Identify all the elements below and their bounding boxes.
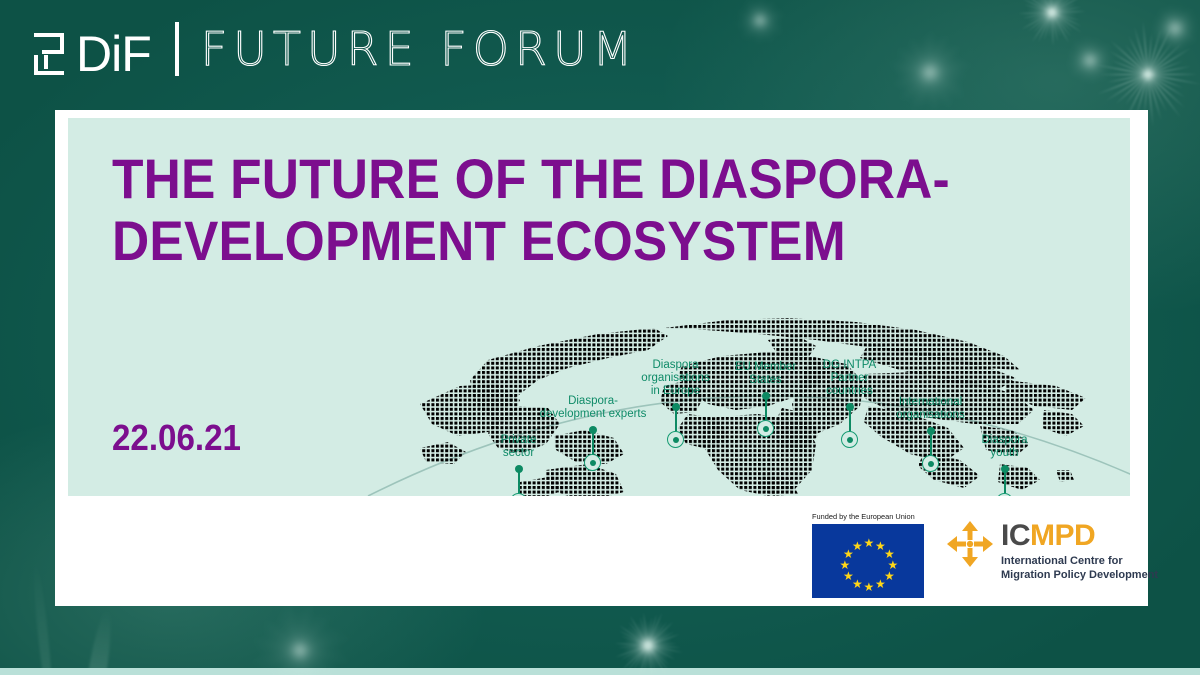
future-forum-text: FUTURE FORUM — [201, 26, 639, 72]
node-stem — [518, 471, 520, 493]
node-ring-icon — [841, 431, 858, 448]
footer-logos: Funded by the European Union ★ ★ ★ ★ ★ ★… — [812, 512, 1158, 598]
node-label: International organisations — [859, 396, 1003, 422]
future-forum-wordmark: FUTURE FORUM — [201, 21, 639, 77]
node-stem — [930, 433, 932, 455]
eu-funding-caption: Funded by the European Union — [812, 512, 930, 522]
node-label: Diaspora youth — [943, 434, 1067, 460]
node-stem — [592, 432, 594, 454]
icmpd-wordmark: ICMPD — [1001, 521, 1158, 551]
header-logo-bar: DiF FUTURE FORUM — [34, 18, 638, 80]
node-ring-icon — [922, 455, 939, 472]
node-stem — [1004, 471, 1006, 493]
bottom-accent-strip — [0, 668, 1200, 675]
slide-panel: Embassies Private sector Diaspora- devel… — [68, 118, 1130, 496]
node-stem — [849, 409, 851, 431]
eu-flag-icon: ★ ★ ★ ★ ★ ★ ★ ★ ★ ★ ★ ★ — [812, 524, 924, 598]
node-stem — [675, 409, 677, 431]
node-ring-icon — [667, 431, 684, 448]
node-ring-icon — [584, 454, 601, 471]
icmpd-subtitle-line-1: International Centre for — [1001, 555, 1158, 569]
page-title: THE FUTURE OF THE DIASPORA-DEVELOPMENT E… — [112, 148, 1032, 272]
slide-stage: DiF FUTURE FORUM — [0, 0, 1200, 675]
icmpd-subtitle: International Centre for Migration Polic… — [1001, 555, 1158, 582]
icmpd-subtitle-line-2: Migration Policy Development — [1001, 569, 1158, 583]
node-label: DG INTPA Partner countries — [788, 359, 912, 398]
event-date: 22.06.21 — [112, 418, 241, 458]
icmpd-arrows-icon — [946, 520, 994, 568]
node-ring-icon — [757, 420, 774, 437]
eudif-wordmark: DiF — [76, 31, 151, 77]
eu-mark-icon — [34, 31, 74, 77]
node-stem — [765, 398, 767, 420]
icmpd-wordmark-ic: IC — [1001, 519, 1030, 552]
icmpd-wordmark-mpd: MPD — [1030, 519, 1095, 552]
eudif-wordmark-text: DiF — [76, 26, 151, 82]
logo-divider — [175, 22, 179, 76]
node-label: Private sector — [459, 434, 579, 460]
icmpd-text-block: ICMPD International Centre for Migration… — [1001, 520, 1158, 582]
icmpd-logo: ICMPD International Centre for Migration… — [946, 512, 1158, 582]
eudif-logo: DiF — [34, 21, 151, 77]
node-label: Diaspora- development experts — [506, 395, 681, 421]
eu-funding-logo: Funded by the European Union ★ ★ ★ ★ ★ ★… — [812, 512, 930, 598]
